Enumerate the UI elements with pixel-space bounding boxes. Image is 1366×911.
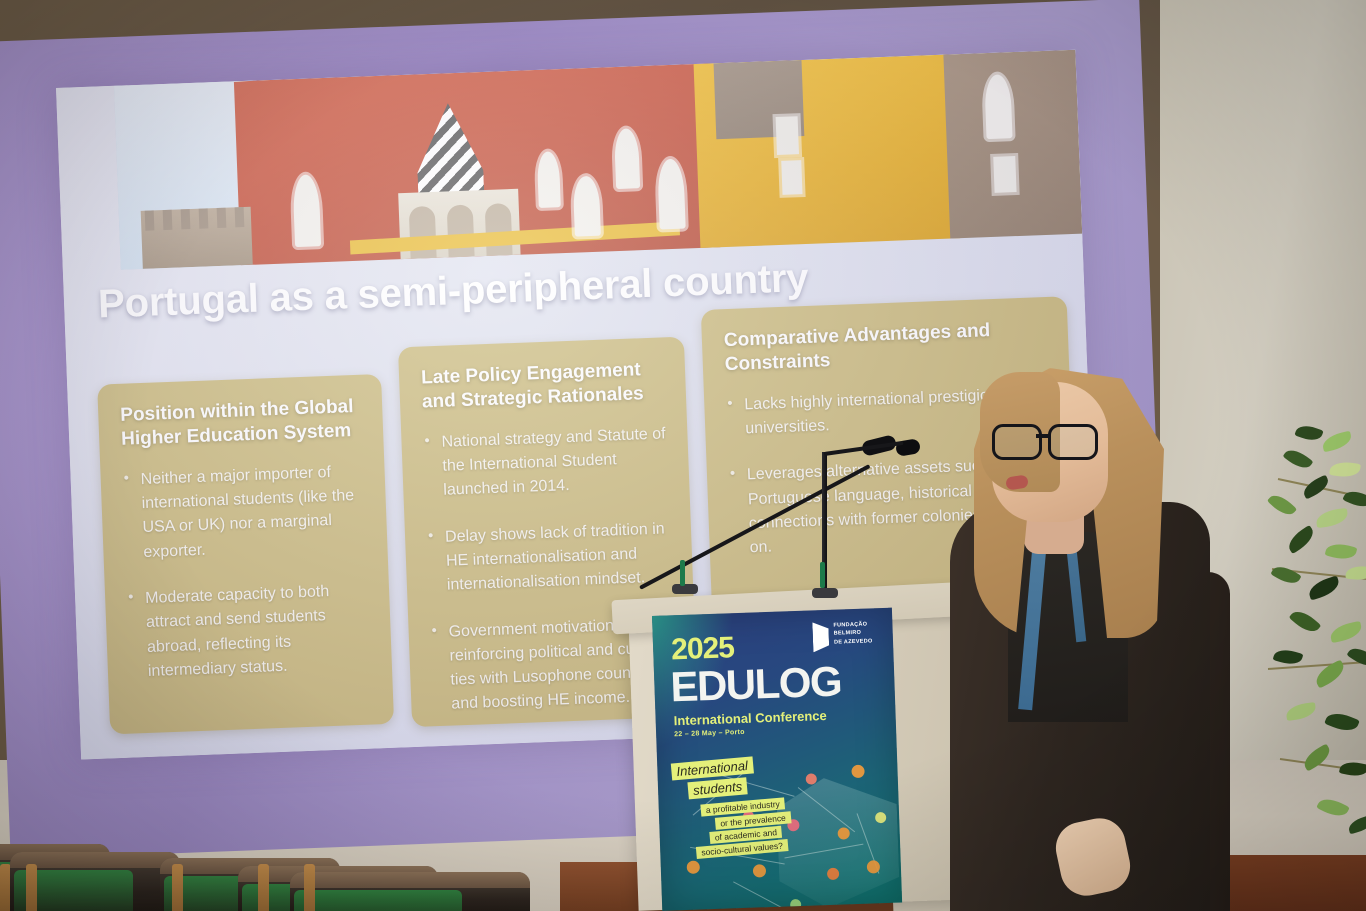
banner-brand: EDULOG <box>670 657 842 711</box>
card-bullet: National strategy and Statute of the Int… <box>441 422 672 503</box>
pena-palace-stone-wing <box>943 50 1082 255</box>
wedge-logo-icon <box>812 622 829 653</box>
presentation-photo-scene: Portugal as a semi-peripheral country Po… <box>0 0 1366 911</box>
card-position-global-he: Position within the Global Higher Educat… <box>97 374 394 734</box>
banner-node <box>687 860 700 873</box>
card-bullet-list: Neither a major importer of internationa… <box>100 459 392 686</box>
banner-node <box>753 864 766 877</box>
banner-theme-line: students <box>687 777 747 799</box>
auditorium-seating <box>0 838 670 911</box>
glasses-icon-right <box>1048 424 1098 460</box>
foundation-logo-text: FUNDAÇÃO BELMIRO DE AZEVEDO <box>833 620 872 646</box>
glasses-icon <box>992 424 1042 460</box>
glasses-bridge-icon <box>1036 434 1050 438</box>
foundation-logo: FUNDAÇÃO BELMIRO DE AZEVEDO <box>812 620 873 652</box>
chair <box>290 872 530 911</box>
chair <box>10 852 180 911</box>
foundation-line-3: DE AZEVEDO <box>834 637 873 647</box>
pena-palace-battlement <box>141 207 253 269</box>
banner-node <box>851 765 864 778</box>
card-bullet: Neither a major importer of internationa… <box>140 459 369 565</box>
potted-ficus-tree <box>1268 418 1366 888</box>
speaker-presenter <box>930 372 1230 911</box>
banner-node <box>806 773 817 784</box>
card-heading: Position within the Global Higher Educat… <box>97 374 384 457</box>
card-heading: Comparative Advantages and Constraints <box>701 296 1069 382</box>
card-heading: Late Policy Engagement and Strategic Rat… <box>398 337 687 420</box>
conference-banner: 2025 EDULOG International Conference 22 … <box>652 608 902 911</box>
card-bullet: Moderate capacity to both attract and se… <box>145 578 374 684</box>
slide-header-photo <box>114 50 1082 270</box>
